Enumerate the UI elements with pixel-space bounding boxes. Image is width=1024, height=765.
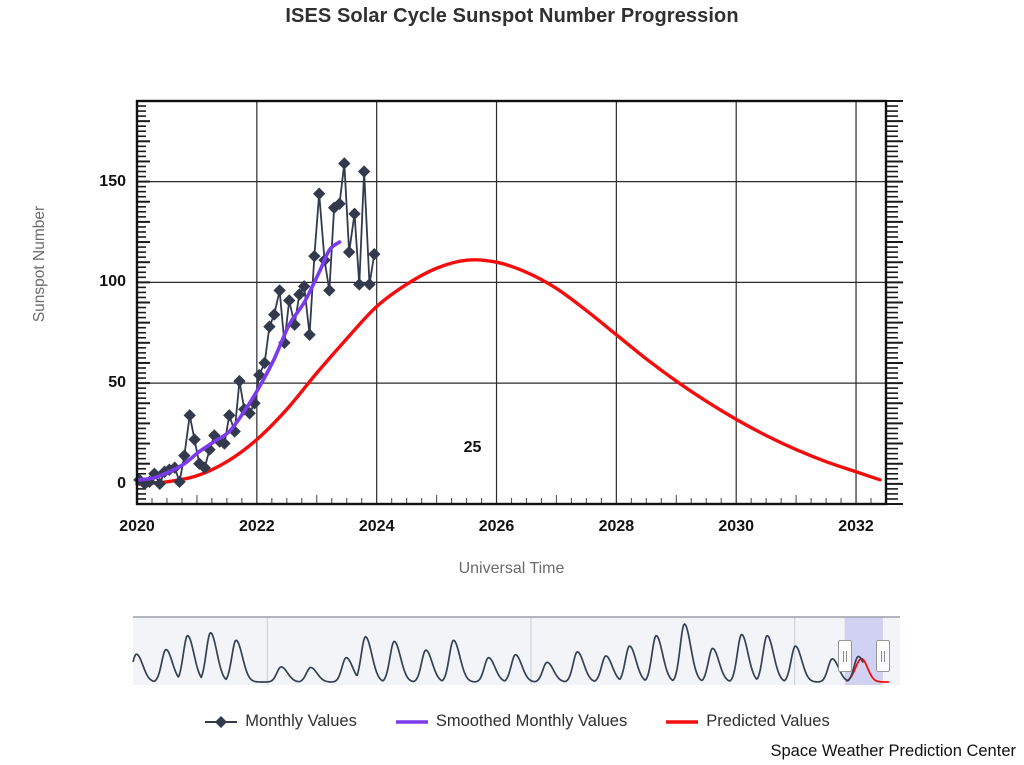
- navigator-handle-right[interactable]: [876, 640, 890, 672]
- legend-item-label: Predicted Values: [706, 712, 830, 731]
- navigator-chart[interactable]: [0, 0, 1024, 765]
- chart-page: ISES Solar Cycle Sunspot Number Progress…: [0, 0, 1024, 765]
- legend-diamond-marker-icon: [204, 714, 238, 730]
- legend-item-label: Smoothed Monthly Values: [436, 712, 627, 731]
- legend-item[interactable]: Predicted Values: [665, 712, 830, 731]
- grip-icon: [843, 651, 847, 662]
- legend-line-marker-icon: [665, 714, 699, 730]
- navigator-handle-left[interactable]: [838, 640, 852, 672]
- chart-legend: Monthly ValuesSmoothed Monthly ValuesPre…: [137, 712, 897, 731]
- legend-item[interactable]: Monthly Values: [204, 712, 357, 731]
- legend-item-label: Monthly Values: [245, 712, 357, 731]
- grip-icon: [881, 651, 885, 662]
- attribution-text: Space Weather Prediction Center: [771, 742, 1017, 761]
- legend-item[interactable]: Smoothed Monthly Values: [395, 712, 627, 731]
- legend-line-marker-icon: [395, 714, 429, 730]
